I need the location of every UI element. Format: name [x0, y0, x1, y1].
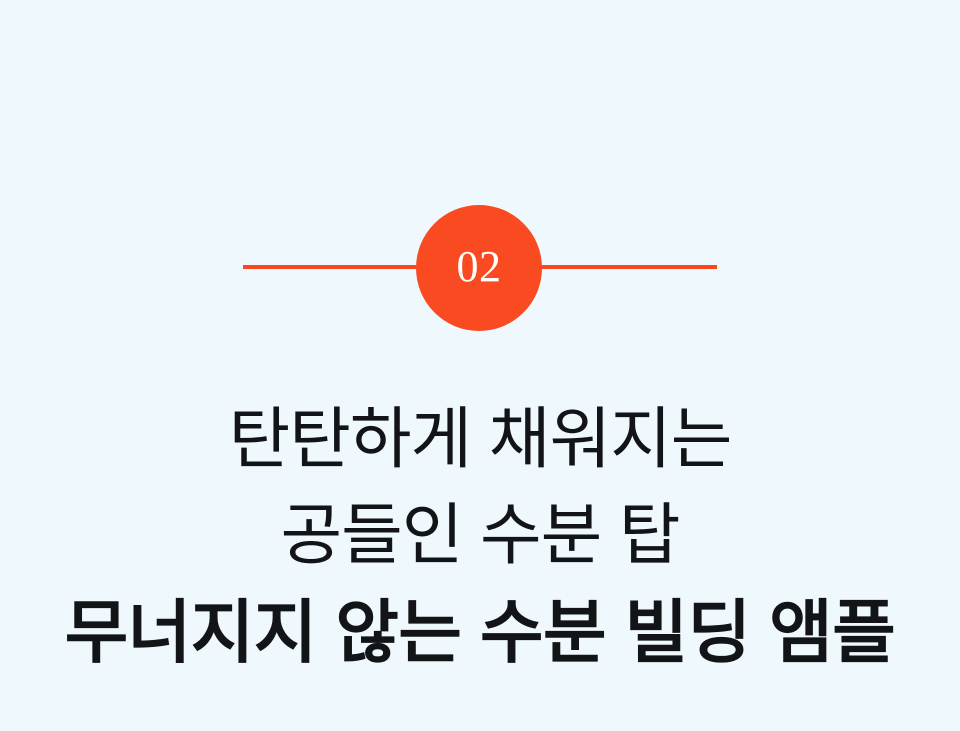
step-badge-block: 02 — [0, 205, 960, 331]
step-number-badge: 02 — [416, 205, 542, 331]
headline-line-2: 공들인 수분 탑 — [0, 488, 960, 584]
headline-line-1: 탄탄하게 채워지는 — [0, 392, 960, 488]
promo-section-page: 02 탄탄하게 채워지는 공들인 수분 탑 무너지지 않는 수분 빌딩 앰플 — [0, 0, 960, 731]
headline-line-3: 무너지지 않는 수분 빌딩 앰플 — [0, 584, 960, 682]
headline-block: 탄탄하게 채워지는 공들인 수분 탑 무너지지 않는 수분 빌딩 앰플 — [0, 392, 960, 682]
step-number-label: 02 — [457, 245, 502, 289]
